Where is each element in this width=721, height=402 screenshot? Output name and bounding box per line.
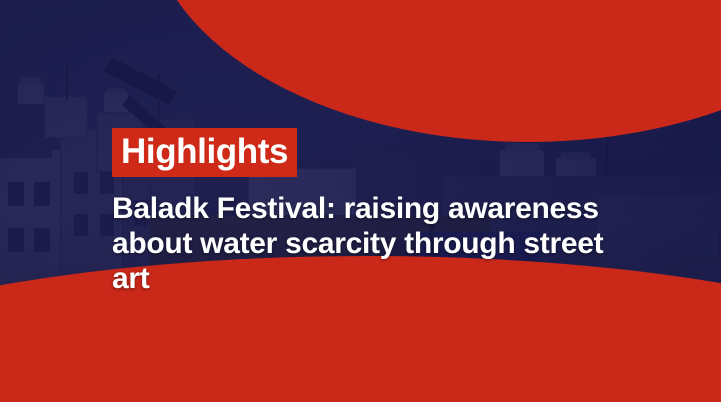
page-title: Baladk Festival: raising awareness about… bbox=[112, 191, 612, 296]
highlights-banner: Highlights Baladk Festival: raising awar… bbox=[0, 0, 721, 402]
banner-content: Highlights Baladk Festival: raising awar… bbox=[112, 128, 612, 296]
highlights-badge: Highlights bbox=[112, 128, 297, 177]
